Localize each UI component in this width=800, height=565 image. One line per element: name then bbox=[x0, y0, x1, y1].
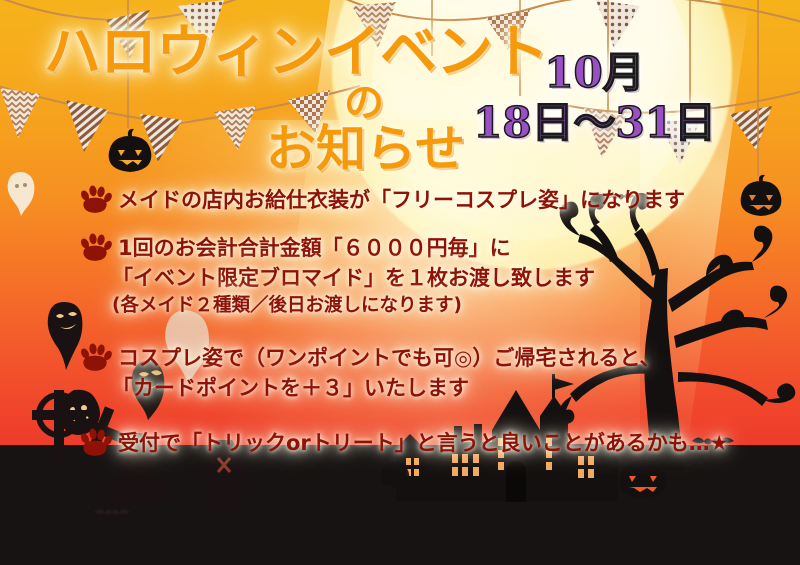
halloween-event-poster: ハロウィンイベント の お知らせ 10月 18日〜31日 bbox=[0, 0, 800, 565]
paw-print-icon bbox=[78, 185, 112, 215]
event-date-badge: 10月 18日〜31日 bbox=[473, 48, 716, 147]
paw-print-icon bbox=[78, 343, 112, 373]
detail-line: 「イベント限定ブロマイド」を１枚お渡し致します bbox=[0, 264, 800, 294]
event-detail-item: メイドの店内お給仕衣装が「フリーコスプレ姿」になります bbox=[0, 186, 800, 216]
detail-line: メイドの店内お給仕衣装が「フリーコスプレ姿」になります bbox=[0, 186, 800, 216]
event-detail-item: 1回のお会計合計金額「６０００円毎」に 「イベント限定ブロマイド」を１枚お渡し致… bbox=[0, 234, 800, 320]
event-detail-item: コスプレ姿で（ワンポイントでも可◎）ご帰宅されると、 「カードポイントを＋３」い… bbox=[0, 344, 800, 404]
event-date-month: 10月 bbox=[473, 48, 716, 98]
event-detail-item: 受付で「トリックorトリート」と言うと良いことがあるかも…★ bbox=[0, 429, 800, 459]
event-date-range: 18日〜31日 bbox=[473, 98, 716, 148]
paw-print-icon bbox=[78, 429, 112, 459]
paw-print-icon bbox=[78, 233, 112, 263]
detail-line-text: コスプレ姿で（ワンポイントでも可◎）ご帰宅されると、 bbox=[118, 346, 660, 370]
detail-line: (各メイド２種類／後日お渡しになります) bbox=[0, 293, 800, 319]
event-details-list: メイドの店内お給仕衣装が「フリーコスプレ姿」になります bbox=[0, 186, 800, 469]
detail-line-text: メイドの店内お給仕衣装が「フリーコスプレ姿」になります bbox=[118, 188, 685, 212]
detail-line-text: 1回のお会計合計金額「６０００円毎」に bbox=[118, 236, 511, 260]
detail-line: 「カードポイントを＋３」いたします bbox=[0, 374, 800, 404]
detail-line: 1回のお会計合計金額「６０００円毎」に bbox=[0, 234, 800, 264]
detail-line: 受付で「トリックorトリート」と言うと良いことがあるかも…★ bbox=[0, 429, 800, 459]
detail-line: コスプレ姿で（ワンポイントでも可◎）ご帰宅されると、 bbox=[0, 344, 800, 374]
detail-line-text: 受付で「トリックorトリート」と言うと良いことがあるかも…★ bbox=[118, 431, 729, 455]
